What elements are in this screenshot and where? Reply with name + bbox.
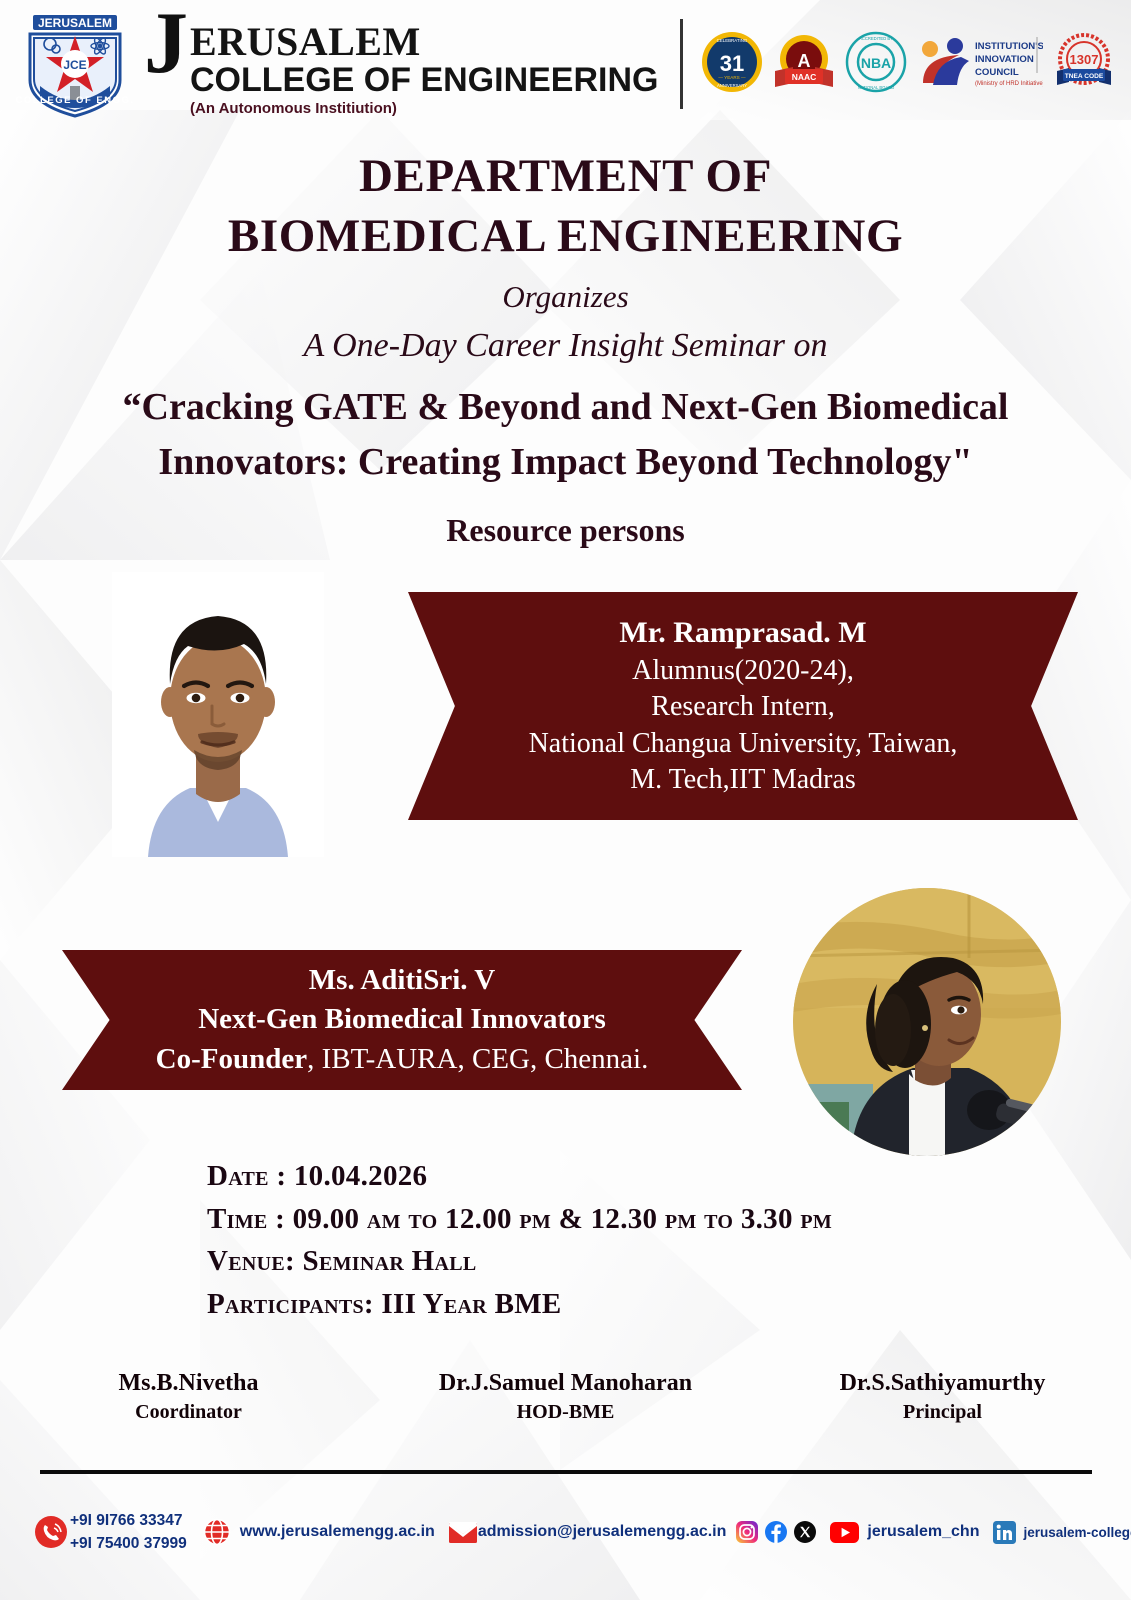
footer-divider xyxy=(40,1470,1092,1474)
speaker-photo-aditisri xyxy=(793,888,1061,1156)
svg-text:ANNIVERSARY: ANNIVERSARY xyxy=(718,83,748,88)
svg-text:— YEARS —: — YEARS — xyxy=(719,75,747,80)
linkedin-contact[interactable]: jerusalem-college-of-engineering xyxy=(993,1521,1131,1544)
accreditation-badges: CELEBRATING 31 — YEARS — ANNIVERSARY A N… xyxy=(701,31,1115,98)
svg-text:JERUSALEM: JERUSALEM xyxy=(38,16,112,30)
event-participants: Participants: III Year BME xyxy=(207,1283,832,1326)
title-block: DEPARTMENT OF BIOMEDICAL ENGINEERING Org… xyxy=(0,146,1131,549)
speaker-2-role-bold: Co-Founder xyxy=(156,1043,307,1075)
svg-text:CELEBRATING: CELEBRATING xyxy=(717,38,748,43)
event-title-line1: “Cracking GATE & Beyond and Next-Gen Bio… xyxy=(0,380,1131,435)
signatory-name: Ms.B.Nivetha xyxy=(24,1368,354,1399)
website-contact[interactable]: www.jerusalemengg.ac.in xyxy=(203,1518,435,1546)
college-autonomous-note: (An Autonomous Institiution) xyxy=(190,101,658,116)
event-date: Date : 10.04.2026 xyxy=(207,1155,832,1198)
event-venue: Venue: Seminar Hall xyxy=(207,1240,832,1283)
speaker-1-line-1: Research Intern, xyxy=(651,689,834,725)
speaker-photo-ramprasad xyxy=(112,572,324,857)
svg-text:31: 31 xyxy=(720,51,744,76)
x-twitter-icon[interactable] xyxy=(794,1521,816,1543)
resource-persons-heading: Resource persons xyxy=(0,512,1131,549)
phone-icon xyxy=(34,1515,68,1549)
svg-text:INSTITUTION'S: INSTITUTION'S xyxy=(975,41,1043,52)
department-line1: DEPARTMENT OF xyxy=(0,146,1131,206)
speaker-2-line-0: Next-Gen Biomedical Innovators xyxy=(198,1000,606,1039)
speaker-2-name: Ms. AditiSri. V xyxy=(309,961,495,1000)
linkedin-handle: jerusalem-college-of-engineering xyxy=(1023,1525,1131,1540)
speaker-1-ribbon: Mr. Ramprasad. M Alumnus(2020-24), Resea… xyxy=(408,592,1078,820)
tnea-code-badge: 1307 TNEA CODE xyxy=(1053,31,1115,98)
speaker-1-line-3: M. Tech,IIT Madras xyxy=(630,762,856,798)
poster-footer: +9I 9I766 33347 +9I 75400 37999 www.jeru… xyxy=(0,1492,1131,1572)
signatory-coordinator: Ms.B.Nivetha Coordinator xyxy=(24,1368,354,1425)
event-title-line2: Innovators: Creating Impact Beyond Techn… xyxy=(0,435,1131,490)
email-address: admission@jerusalemengg.ac.in xyxy=(478,1523,727,1541)
svg-text:INNOVATION: INNOVATION xyxy=(975,54,1034,65)
signatory-name: Dr.J.Samuel Manoharan xyxy=(401,1368,731,1399)
youtube-icon xyxy=(830,1522,859,1543)
signatory-role: HOD-BME xyxy=(401,1399,731,1425)
globe-icon xyxy=(203,1518,231,1546)
college-name-block: J ERUSALEM COLLEGE OF ENGINEERING (An Au… xyxy=(144,12,658,115)
envelope-icon xyxy=(449,1522,477,1543)
college-name-line2: COLLEGE OF ENGINEERING xyxy=(190,63,658,99)
facebook-icon[interactable] xyxy=(765,1521,787,1543)
event-time: Time : 09.00 am to 12.00 pm & 12.30 pm t… xyxy=(207,1198,832,1241)
social-icons-group xyxy=(736,1521,816,1543)
poster-root: JERUSALEM JCE COLLEGE OF ENGG. J ERUS xyxy=(0,0,1131,1600)
email-contact[interactable]: admission@jerusalemengg.ac.in xyxy=(449,1522,727,1543)
organizes-label: Organizes xyxy=(0,278,1131,317)
event-subtitle: A One-Day Career Insight Seminar on xyxy=(0,325,1131,368)
naac-a-badge: A NAAC xyxy=(773,31,835,98)
svg-text:COUNCIL: COUNCIL xyxy=(975,67,1019,78)
signatory-hod: Dr.J.Samuel Manoharan HOD-BME xyxy=(401,1368,731,1425)
speaker-2-role-rest: , IBT-AURA, CEG, Chennai. xyxy=(307,1043,648,1075)
linkedin-icon xyxy=(993,1521,1016,1544)
phone-contact[interactable]: +9I 9I766 33347 +9I 75400 37999 xyxy=(34,1509,187,1556)
svg-text:1307: 1307 xyxy=(1070,52,1099,67)
speaker-1-name: Mr. Ramprasad. M xyxy=(619,613,866,653)
college-initial: J xyxy=(144,12,188,75)
speaker-1-line-2: National Changua University, Taiwan, xyxy=(529,726,958,762)
college-name-line1: ERUSALEM xyxy=(190,22,658,63)
speaker-2-role-line: Co-Founder, IBT-AURA, CEG, Chennai. xyxy=(156,1040,649,1079)
svg-text:A: A xyxy=(798,51,811,71)
signatory-name: Dr.S.Sathiyamurthy xyxy=(778,1368,1108,1399)
svg-text:ACCREDITED BY: ACCREDITED BY xyxy=(859,36,893,41)
signatory-role: Principal xyxy=(778,1399,1108,1425)
svg-text:NATIONAL BOARD: NATIONAL BOARD xyxy=(858,85,895,90)
event-details: Date : 10.04.2026 Time : 09.00 am to 12.… xyxy=(207,1155,832,1326)
signatory-principal: Dr.S.Sathiyamurthy Principal xyxy=(778,1368,1108,1425)
speaker-1-line-0: Alumnus(2020-24), xyxy=(632,653,854,689)
svg-text:(Ministry of HRD Initiative): (Ministry of HRD Initiative) xyxy=(975,81,1043,87)
header-divider xyxy=(680,19,683,109)
anniversary-31-badge: CELEBRATING 31 — YEARS — ANNIVERSARY xyxy=(701,31,763,98)
youtube-contact[interactable]: jerusalem_chn xyxy=(830,1522,979,1543)
youtube-handle: jerusalem_chn xyxy=(867,1523,979,1541)
speaker-2-ribbon: Ms. AditiSri. V Next-Gen Biomedical Inno… xyxy=(62,950,742,1090)
website-url: www.jerusalemengg.ac.in xyxy=(240,1523,435,1541)
speaker-2-section: Ms. AditiSri. V Next-Gen Biomedical Inno… xyxy=(0,880,1131,1180)
signatory-role: Coordinator xyxy=(24,1399,354,1425)
instagram-icon[interactable] xyxy=(736,1521,758,1543)
svg-text:COLLEGE OF ENGG.: COLLEGE OF ENGG. xyxy=(16,95,134,106)
poster-header: JERUSALEM JCE COLLEGE OF ENGG. J ERUS xyxy=(0,0,1131,120)
svg-text:TNEA CODE: TNEA CODE xyxy=(1065,73,1104,80)
college-crest-logo: JERUSALEM JCE COLLEGE OF ENGG. xyxy=(16,8,134,120)
signatory-block: Ms.B.Nivetha Coordinator Dr.J.Samuel Man… xyxy=(0,1368,1131,1425)
svg-text:JCE: JCE xyxy=(63,58,86,72)
svg-text:NBA: NBA xyxy=(861,55,891,71)
department-line2: BIOMEDICAL ENGINEERING xyxy=(0,206,1131,266)
svg-text:NAAC: NAAC xyxy=(792,72,817,82)
institutions-innovation-council-badge: INSTITUTION'S INNOVATION COUNCIL (Minist… xyxy=(917,31,1043,98)
nba-badge: NBA ACCREDITED BY NATIONAL BOARD xyxy=(845,31,907,98)
phone-number-1: +9I 9I766 33347 xyxy=(70,1509,187,1532)
speaker-1-section: Mr. Ramprasad. M Alumnus(2020-24), Resea… xyxy=(0,560,1131,860)
phone-number-2: +9I 75400 37999 xyxy=(70,1532,187,1555)
